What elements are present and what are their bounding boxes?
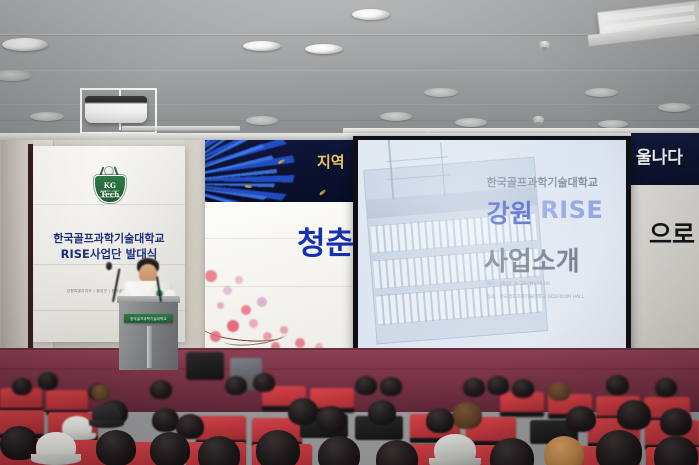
downlight xyxy=(658,103,691,112)
audience-head xyxy=(96,430,136,465)
ceiling xyxy=(0,0,699,142)
projection-screen: 한국골프과학기술대학교 강원 RISE 사업소개 일시 : 2025. 9. 2… xyxy=(358,140,626,354)
swirl-graphic xyxy=(205,140,277,202)
banner-headline-1: 한국골프과학기술대학교 xyxy=(33,230,185,246)
right-banner: 울나다 으로 xyxy=(631,133,699,355)
audience-head xyxy=(355,376,377,395)
downlight xyxy=(424,88,458,97)
cherry-blossom xyxy=(257,297,267,307)
ceiling-projector xyxy=(85,96,147,123)
backdrop-white-panel: 청춘 xyxy=(205,202,355,352)
microphone-head xyxy=(106,262,112,270)
downlight xyxy=(598,120,628,128)
audience-head xyxy=(655,378,677,397)
cherry-blossom xyxy=(227,320,239,332)
downlight xyxy=(380,112,412,121)
podium-nameplate: 한국골프과학기술대학교 xyxy=(124,314,174,323)
audience-head xyxy=(225,376,247,395)
audience-head xyxy=(490,438,534,465)
kgtech-shield: KG Tech KOREA GOLF SCIENCE TECHNOLOGY UN… xyxy=(94,175,126,203)
audience-head xyxy=(150,432,190,465)
right-banner-navy-text: 울나다 xyxy=(636,143,683,168)
audience-head xyxy=(487,376,509,395)
cherry-blossom xyxy=(295,338,305,348)
kgtech-logo-subtext: KOREA GOLF SCIENCE TECHNOLOGY UNIV. xyxy=(95,190,125,199)
podium-body: 한국골프과학기술대학교 xyxy=(119,302,178,370)
backdrop-navy-text: 지역 xyxy=(317,151,345,172)
slide-place-line: 장소 : 한국골프과학기술대학교 GOLFDOM HALL xyxy=(487,294,585,300)
right-banner-text: 으로 xyxy=(649,215,695,251)
downlight xyxy=(305,44,343,54)
audience-head xyxy=(596,430,642,465)
audience-head xyxy=(150,380,172,399)
cap-brim xyxy=(89,420,125,428)
audience-head xyxy=(12,378,32,395)
cap-brim xyxy=(429,458,481,465)
auditorium-photo: KG Tech KOREA GOLF SCIENCE TECHNOLOGY UN… xyxy=(0,0,699,465)
slide-program-en: RISE xyxy=(540,196,603,224)
downlight xyxy=(0,70,32,81)
audience-head xyxy=(463,378,485,397)
audience-head xyxy=(368,400,396,425)
cherry-blossom xyxy=(217,302,224,309)
downlight xyxy=(585,88,618,97)
cherry-blossom xyxy=(210,331,221,342)
downlight xyxy=(352,9,390,20)
downlight xyxy=(455,118,487,127)
stage-backdrop: 지역 청춘 xyxy=(205,140,355,352)
audience-head xyxy=(253,373,275,392)
audience-head xyxy=(316,406,346,433)
audience-head xyxy=(288,398,318,425)
backdrop-navy-band: 지역 xyxy=(205,140,355,202)
downlight xyxy=(246,116,278,125)
audience-head xyxy=(426,408,454,433)
cap-brim xyxy=(31,454,81,465)
audience-cap xyxy=(92,404,121,426)
right-banner-navy: 울나다 xyxy=(631,133,699,185)
downlight xyxy=(30,112,64,121)
slide-university-name: 한국골프과학기술대학교 xyxy=(487,174,598,190)
sprinkler-head xyxy=(539,41,550,49)
cherry-blossom xyxy=(223,286,232,295)
audience-cap xyxy=(36,432,76,462)
slide-program-kr: 강원 xyxy=(487,194,533,230)
slide-date-line: 일시 : 2025. 9. 29.(월) 16:00 xyxy=(487,281,550,287)
audience-cap xyxy=(434,434,476,465)
audience-head xyxy=(566,406,596,432)
podium-center-post xyxy=(147,326,152,368)
cherry-blossom xyxy=(280,326,288,334)
right-banner-panel: 으로 xyxy=(631,185,699,355)
cherry-blossom xyxy=(263,332,272,341)
presentation-slide: 한국골프과학기술대학교 강원 RISE 사업소개 일시 : 2025. 9. 2… xyxy=(358,140,626,354)
sprinkler-head xyxy=(533,116,544,124)
kgtech-logo: KG Tech KOREA GOLF SCIENCE TECHNOLOGY UN… xyxy=(92,166,126,204)
screen-rail xyxy=(122,126,240,131)
seat xyxy=(46,390,88,412)
building-mast-brace xyxy=(387,156,449,162)
podium-nameplate-text: 한국골프과학기술대학교 xyxy=(124,316,174,321)
downlight xyxy=(2,38,48,51)
audience-head xyxy=(544,436,584,465)
wall-shade xyxy=(0,140,26,380)
podium: 한국골프과학기술대학교 xyxy=(117,296,180,370)
audience-head xyxy=(92,384,110,401)
audience-head xyxy=(256,430,300,465)
cherry-blossom xyxy=(241,305,251,315)
downlight xyxy=(243,41,281,51)
audience-head xyxy=(548,382,570,401)
backdrop-calligraphy: 청춘 xyxy=(297,218,354,263)
audience-head xyxy=(38,372,58,390)
audience-head xyxy=(152,408,179,432)
banner-headline-2: RISE사업단 발대식 xyxy=(33,246,185,262)
audience-head xyxy=(660,408,692,436)
audience-head xyxy=(452,402,482,429)
audience-head xyxy=(318,436,360,465)
slide-subject: 사업소개 xyxy=(484,241,580,278)
audience-head xyxy=(512,379,534,398)
cherry-blossom xyxy=(249,319,258,328)
audience-seating xyxy=(0,370,699,465)
cherry-blossom xyxy=(235,276,243,284)
audience-head xyxy=(380,377,402,396)
gold-leaf-accent xyxy=(319,189,327,195)
audience-head xyxy=(617,400,651,430)
audience-head xyxy=(606,375,629,395)
cherry-blossom xyxy=(205,270,217,282)
